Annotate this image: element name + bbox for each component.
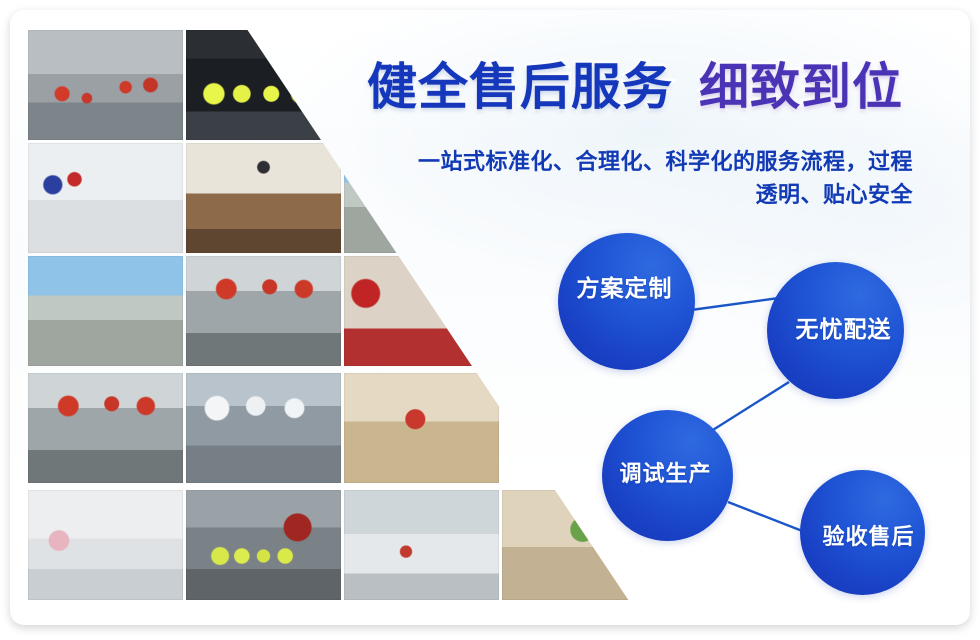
service-flow-diagram: 方案定制 无忧配送 调试生产 验收售后 xyxy=(10,10,970,625)
flow-node-plan-customization[interactable]: 方案定制 xyxy=(558,233,695,370)
banner-card: 健全售后服务细致到位 一站式标准化、合理化、科学化的服务流程，过程 透明、贴心安… xyxy=(10,10,970,625)
flow-node-label: 方案定制 xyxy=(577,269,673,303)
flow-node-label: 无忧配送 xyxy=(796,310,892,344)
connector-production-to-acceptance xyxy=(728,502,810,534)
banner-root: 健全售后服务细致到位 一站式标准化、合理化、科学化的服务流程，过程 透明、贴心安… xyxy=(0,0,980,640)
connector-plan-to-delivery xyxy=(691,298,779,310)
flow-node-label: 验收售后 xyxy=(822,519,914,551)
flow-node-worry-free-delivery[interactable]: 无忧配送 xyxy=(767,262,904,399)
flow-node-commissioning-production[interactable]: 调试生产 xyxy=(602,410,733,541)
flow-node-acceptance-aftersales[interactable]: 验收售后 xyxy=(800,470,925,595)
flow-node-label: 调试生产 xyxy=(619,456,711,488)
